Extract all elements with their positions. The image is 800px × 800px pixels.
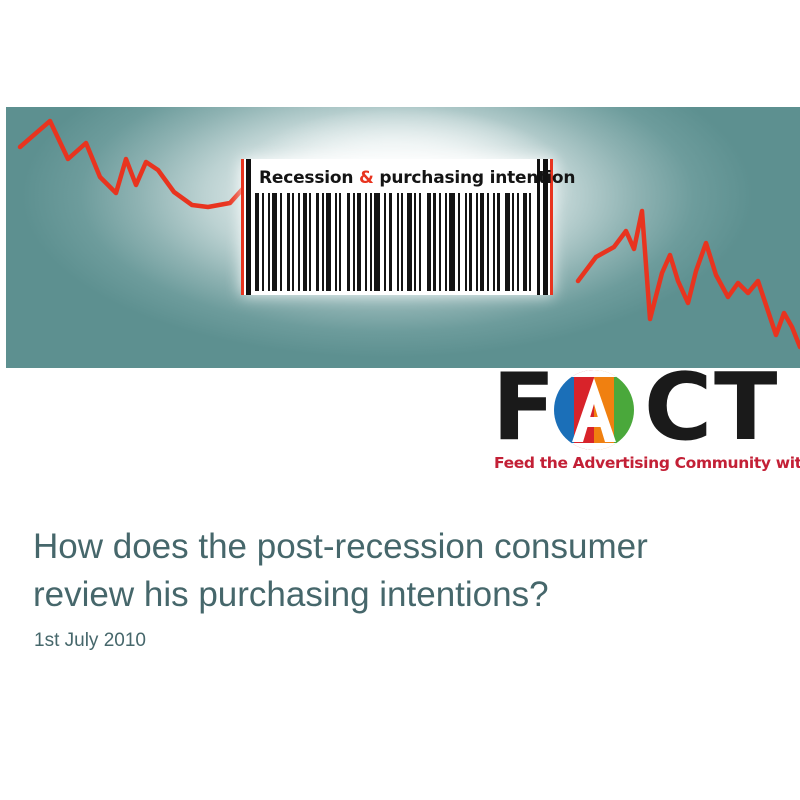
barcode-bar [445,193,447,291]
barcode-bar [322,193,324,291]
barcode-bar [397,193,399,291]
barcode-bar [476,193,478,291]
barcode-rail-left [241,159,244,295]
recession-banner: Recession & purchasing intention [6,107,800,368]
logo-letter-a-disc [554,370,634,450]
barcode-bar [255,193,259,291]
barcode-bar [316,193,319,291]
barcode-bar [384,193,386,291]
barcode-label-suffix: purchasing intention [374,168,576,188]
barcode-bar [493,193,495,291]
barcode-bar [326,193,331,291]
barcode-bar [309,193,311,291]
barcode-bar [449,193,455,291]
barcode-bar [529,193,531,291]
logo-letter-t: T [714,364,775,450]
barcode-bar [303,193,307,291]
barcode-bar [505,193,510,291]
barcode-bar [401,193,403,291]
barcode-bar [287,193,290,291]
barcode-bar [389,193,392,291]
barcode-bar [374,193,380,291]
fact-logo: F C T Feed the Advertising Community wit… [492,368,788,480]
barcode-bar [262,193,264,291]
trend-line-right [578,211,800,347]
barcode-bar [357,193,361,291]
logo-tagline: Feed the Advertising Community with Tren… [494,454,800,472]
barcode-bar [497,193,500,291]
logo-a-glyph [554,370,634,450]
barcode-bar [480,193,484,291]
barcode-bar [523,193,527,291]
barcode-bar [433,193,436,291]
barcode-bar [272,193,277,291]
barcode-label-ampersand: & [359,168,374,188]
barcode-bars [255,193,537,291]
page-date: 1st July 2010 [34,630,146,652]
barcode-bar [487,193,489,291]
barcode-bar [335,193,337,291]
barcode-bar [407,193,412,291]
barcode-bar [370,193,372,291]
barcode-graphic: Recession & purchasing intention [241,159,553,295]
barcode-bar [465,193,467,291]
logo-letter-f: F [492,364,554,450]
barcode-bar [419,193,421,291]
barcode-bar [512,193,514,291]
barcode-bar [347,193,350,291]
barcode-label-prefix: Recession [259,168,359,188]
barcode-bar [353,193,355,291]
barcode-bar [268,193,270,291]
fact-wordmark: F C T [492,368,788,454]
barcode-bar [439,193,441,291]
barcode-bar [414,193,416,291]
barcode-bar [458,193,460,291]
barcode-bar [517,193,519,291]
page-title: How does the post-recession consumer rev… [33,523,753,619]
barcode-bar [365,193,367,291]
barcode-bar [280,193,282,291]
logo-letter-c: C [644,364,710,450]
barcode-guard-left [246,159,251,295]
barcode-bar [427,193,431,291]
barcode-bar [469,193,472,291]
barcode-label: Recession & purchasing intention [259,165,535,191]
barcode-bar [298,193,300,291]
barcode-bar [339,193,341,291]
barcode-bar [292,193,294,291]
